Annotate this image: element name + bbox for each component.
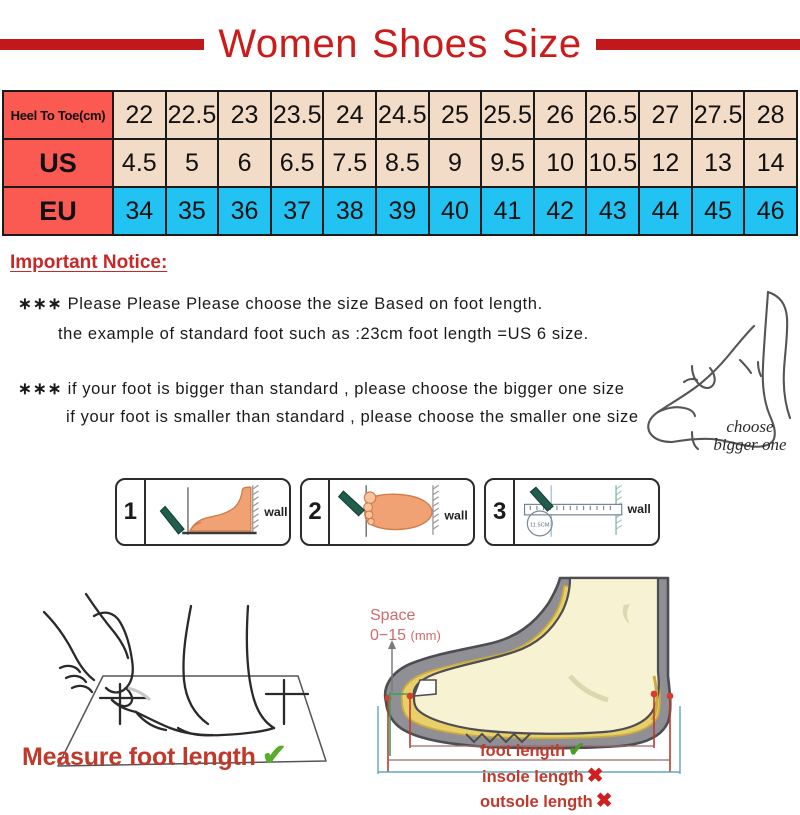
space-gap-label: Space 0−15 (mm) — [370, 606, 441, 646]
space-label-line1: Space — [370, 606, 441, 626]
choose-bigger-line2: bigger one — [690, 436, 800, 454]
legend-outsole-length: outsole length✖ — [480, 789, 750, 815]
table-row-eu: EU 34 35 36 37 38 39 40 41 42 43 44 45 4… — [3, 187, 797, 235]
row-header-eu: EU — [3, 187, 113, 235]
cell-us: 6 — [218, 139, 271, 187]
table-row-us: US 4.5 5 6 6.5 7.5 8.5 9 9.5 10 10.5 12 … — [3, 139, 797, 187]
cell-us: 9.5 — [481, 139, 534, 187]
check-icon: ✔ — [262, 739, 287, 772]
cell-eu: 46 — [744, 187, 797, 235]
notice-line-3: ∗∗∗ if your foot is bigger than standard… — [18, 379, 625, 399]
cell-eu: 37 — [271, 187, 324, 235]
title-word-women: Women — [218, 22, 358, 66]
page-title: WomenShoesSize — [214, 22, 585, 67]
cell-eu: 35 — [166, 187, 219, 235]
cell-us: 9 — [429, 139, 482, 187]
notice-line-4-text: if your foot is smaller than standard , … — [66, 408, 639, 426]
title-word-shoes: Shoes — [372, 22, 488, 66]
cell-us: 5 — [166, 139, 219, 187]
cell-cm: 23 — [218, 91, 271, 139]
cell-us: 7.5 — [323, 139, 376, 187]
cell-eu: 40 — [429, 187, 482, 235]
step-3-wall-label: wall — [627, 502, 651, 516]
row-header-us: US — [3, 139, 113, 187]
cell-us: 8.5 — [376, 139, 429, 187]
notice-line-1: ∗∗∗ Please Please Please choose the size… — [18, 294, 543, 314]
cell-cm: 26 — [534, 91, 587, 139]
step-1-wall-label: wall — [263, 505, 287, 519]
cell-cm: 26.5 — [586, 91, 639, 139]
cell-us: 6.5 — [271, 139, 324, 187]
title-word-size: Size — [502, 22, 582, 66]
cell-eu: 45 — [692, 187, 745, 235]
check-icon: ✔ — [568, 739, 585, 761]
cell-cm: 25 — [429, 91, 482, 139]
legend-foot-length: foot length✔ — [480, 738, 750, 764]
step-3: 3 — [484, 478, 660, 546]
choose-bigger-caption: choose bigger one — [690, 418, 800, 455]
step-3-illustration: 11.5CM wall — [515, 480, 658, 544]
legend-insole-length: insole length✖ — [480, 764, 750, 790]
important-notice-heading: Important Notice: — [10, 252, 167, 274]
cell-us: 10.5 — [586, 139, 639, 187]
size-conversion-table: Heel To Toe(cm) 22 22.5 23 23.5 24 24.5 … — [2, 90, 798, 236]
cell-us: 10 — [534, 139, 587, 187]
cell-cm: 22.5 — [166, 91, 219, 139]
cell-eu: 43 — [586, 187, 639, 235]
legend-foot-length-text: foot length — [480, 742, 565, 760]
cell-cm: 24 — [323, 91, 376, 139]
notice-line-2: the example of standard foot such as :23… — [58, 325, 589, 344]
measure-foot-length-caption: Measure foot length✔ — [22, 738, 287, 773]
step-2-number: 2 — [302, 480, 331, 544]
row-header-heel-to-toe: Heel To Toe(cm) — [3, 91, 113, 139]
cell-us: 12 — [639, 139, 692, 187]
legend-outsole-length-text: outsole length — [480, 793, 593, 811]
cell-eu: 39 — [376, 187, 429, 235]
cell-cm: 22 — [113, 91, 166, 139]
length-legend: foot length✔ insole length✖ outsole leng… — [480, 738, 750, 815]
cell-eu: 36 — [218, 187, 271, 235]
page-header: WomenShoesSize — [0, 18, 800, 70]
notice-line-1-text: Please Please Please choose the size Bas… — [68, 295, 543, 313]
step-3-number: 3 — [486, 480, 515, 544]
notice-line-3-text: if your foot is bigger than standard , p… — [68, 380, 625, 398]
legend-insole-length-text: insole length — [482, 768, 584, 786]
step-3-ruler-badge: 11.5CM — [530, 522, 550, 528]
cross-icon: ✖ — [587, 765, 604, 787]
cell-eu: 41 — [481, 187, 534, 235]
step-1-illustration: wall — [146, 480, 289, 544]
cell-cm: 28 — [744, 91, 797, 139]
space-label-value: 0−15 — [370, 627, 406, 644]
cell-cm: 24.5 — [376, 91, 429, 139]
space-label-unit: (mm) — [411, 628, 441, 643]
measurement-steps: 1 wall 2 — [115, 478, 660, 546]
cell-cm: 27 — [639, 91, 692, 139]
cell-eu: 44 — [639, 187, 692, 235]
title-rule-right — [596, 39, 800, 50]
step-2: 2 wall — [300, 478, 476, 546]
cell-cm: 23.5 — [271, 91, 324, 139]
cell-cm: 27.5 — [692, 91, 745, 139]
notice-stars: ∗∗∗ — [18, 380, 62, 398]
step-2-wall-label: wall — [444, 509, 468, 523]
notice-line-4: if your foot is smaller than standard , … — [66, 408, 639, 427]
step-1: 1 wall — [115, 478, 291, 546]
cross-icon: ✖ — [596, 790, 613, 812]
measure-caption-text: Measure foot length — [22, 743, 256, 771]
cell-us: 14 — [744, 139, 797, 187]
cell-eu: 38 — [323, 187, 376, 235]
cell-us: 4.5 — [113, 139, 166, 187]
notice-line-2-text: the example of standard foot such as :23… — [58, 325, 589, 343]
step-1-number: 1 — [117, 480, 146, 544]
title-rule-left — [0, 39, 204, 50]
choose-bigger-line1: choose — [690, 418, 800, 436]
cell-eu: 42 — [534, 187, 587, 235]
cell-eu: 34 — [113, 187, 166, 235]
notice-stars: ∗∗∗ — [18, 295, 62, 313]
step-2-illustration: wall — [330, 480, 473, 544]
cell-us: 13 — [692, 139, 745, 187]
cell-cm: 25.5 — [481, 91, 534, 139]
table-row-heel-to-toe: Heel To Toe(cm) 22 22.5 23 23.5 24 24.5 … — [3, 91, 797, 139]
